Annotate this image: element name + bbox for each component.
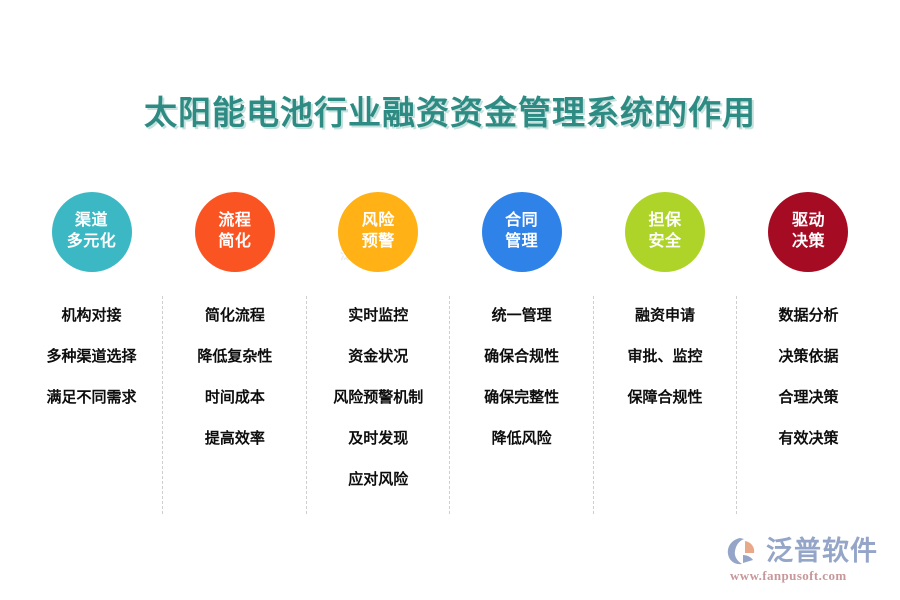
column-decision: 驱动 决策 数据分析 决策依据 合理决策 有效决策 <box>737 192 880 446</box>
list-item: 满足不同需求 <box>46 390 136 405</box>
bubble-risk-line1: 风险 <box>362 211 395 232</box>
list-item: 保障合规性 <box>628 390 703 405</box>
list-item: 多种渠道选择 <box>46 349 136 364</box>
list-item: 确保合规性 <box>484 349 559 364</box>
bubble-decision-line1: 驱动 <box>792 211 825 232</box>
brand-url: www.fanpusoft.com <box>730 569 847 582</box>
bubble-risk[interactable]: 风险 预警 <box>338 192 418 272</box>
list-item: 资金状况 <box>348 349 408 364</box>
list-item: 风险预警机制 <box>333 390 423 405</box>
bubble-channel-line1: 渠道 <box>75 211 108 232</box>
column-guarantee: 担保 安全 融资申请 审批、监控 保障合规性 <box>594 192 737 405</box>
list-item: 应对风险 <box>348 472 408 487</box>
item-list-process: 简化流程 降低复杂性 时间成本 提高效率 <box>163 308 306 446</box>
bubble-process[interactable]: 流程 简化 <box>195 192 275 272</box>
list-item: 简化流程 <box>205 308 265 323</box>
column-risk: 风险 预警 实时监控 资金状况 风险预警机制 及时发现 应对风险 <box>307 192 450 487</box>
list-item: 提高效率 <box>205 431 265 446</box>
item-list-channel: 机构对接 多种渠道选择 满足不同需求 <box>20 308 163 405</box>
item-list-decision: 数据分析 决策依据 合理决策 有效决策 <box>737 308 880 446</box>
bubble-guarantee[interactable]: 担保 安全 <box>625 192 705 272</box>
list-item: 机构对接 <box>61 308 121 323</box>
item-list-risk: 实时监控 资金状况 风险预警机制 及时发现 应对风险 <box>307 308 450 487</box>
list-item: 降低复杂性 <box>197 349 272 364</box>
list-item: 统一管理 <box>492 308 552 323</box>
page-title: 太阳能电池行业融资资金管理系统的作用 <box>144 86 756 134</box>
bubble-process-line1: 流程 <box>218 211 251 232</box>
bubble-contract-line1: 合同 <box>505 211 538 232</box>
bubble-decision[interactable]: 驱动 决策 <box>768 192 848 272</box>
list-item: 审批、监控 <box>628 349 703 364</box>
bubble-process-line2: 简化 <box>218 232 251 253</box>
list-item: 融资申请 <box>635 308 695 323</box>
bubble-channel[interactable]: 渠道 多元化 <box>52 192 132 272</box>
bubble-contract-line2: 管理 <box>505 232 538 253</box>
list-item: 降低风险 <box>492 431 552 446</box>
bubble-guarantee-line1: 担保 <box>649 211 682 232</box>
page-title-wrapper: 太阳能电池行业融资资金管理系统的作用 <box>0 86 900 134</box>
brand-logo-row: 泛普软件 <box>727 536 878 566</box>
column-process: 流程 简化 简化流程 降低复杂性 时间成本 提高效率 <box>163 192 306 446</box>
list-item: 及时发现 <box>348 431 408 446</box>
list-item: 合理决策 <box>778 390 838 405</box>
column-contract: 合同 管理 统一管理 确保合规性 确保完整性 降低风险 <box>450 192 593 446</box>
list-item: 确保完整性 <box>484 390 559 405</box>
bubble-contract[interactable]: 合同 管理 <box>482 192 562 272</box>
columns-container: 渠道 多元化 机构对接 多种渠道选择 满足不同需求 流程 简化 简化流程 降低复… <box>20 192 880 487</box>
list-item: 数据分析 <box>778 308 838 323</box>
column-channel: 渠道 多元化 机构对接 多种渠道选择 满足不同需求 <box>20 192 163 405</box>
infographic-canvas: 太阳能电池行业融资资金管理系统的作用 泛普 渠道 多元化 机构对接 多种渠道选择… <box>0 0 900 600</box>
list-item: 时间成本 <box>205 390 265 405</box>
brand-name: 泛普软件 <box>766 538 878 565</box>
bubble-channel-line2: 多元化 <box>67 232 117 253</box>
list-item: 有效决策 <box>778 431 838 446</box>
list-item: 实时监控 <box>348 308 408 323</box>
item-list-contract: 统一管理 确保合规性 确保完整性 降低风险 <box>450 308 593 446</box>
bubble-decision-line2: 决策 <box>792 232 825 253</box>
list-item: 决策依据 <box>778 349 838 364</box>
bubble-guarantee-line2: 安全 <box>649 232 682 253</box>
brand-logo: 泛普软件 www.fanpusoft.com <box>727 536 878 582</box>
bubble-risk-line2: 预警 <box>362 232 395 253</box>
fanpu-logo-icon <box>727 536 761 566</box>
item-list-guarantee: 融资申请 审批、监控 保障合规性 <box>594 308 737 405</box>
